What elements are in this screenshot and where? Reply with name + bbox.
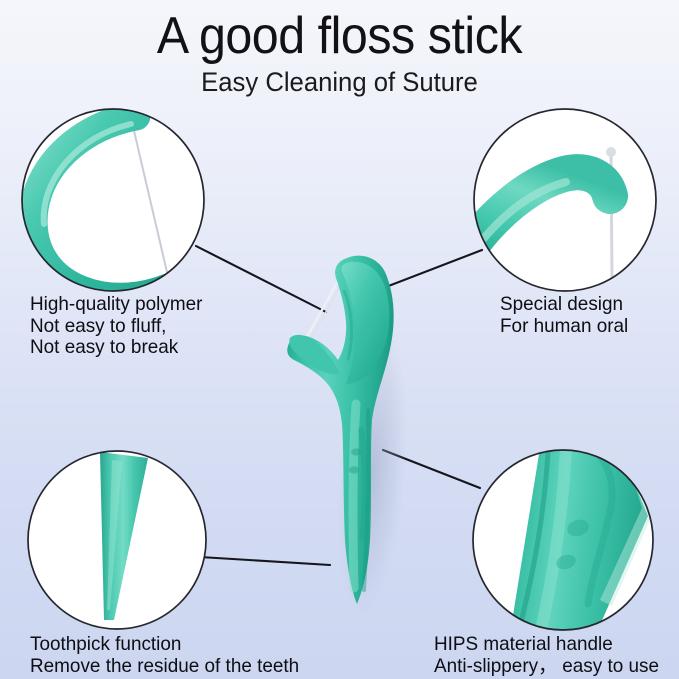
callout-caption-top-right: Special design For human oral bbox=[500, 294, 628, 337]
infographic-page: A good floss stick Easy Cleaning of Sutu… bbox=[0, 0, 679, 679]
caption-line: Remove the residue of the teeth bbox=[30, 656, 299, 678]
caption-line: For human oral bbox=[500, 316, 628, 338]
callout-caption-bottom-left: Toothpick function Remove the residue of… bbox=[30, 634, 299, 677]
caption-line: High-quality polymer bbox=[30, 294, 202, 316]
captions-layer: High-quality polymer Not easy to fluff, … bbox=[0, 0, 679, 679]
caption-line: Special design bbox=[500, 294, 628, 316]
caption-line: HIPS material handle bbox=[434, 634, 659, 656]
caption-line: Not easy to break bbox=[30, 337, 202, 359]
caption-line: Anti-slippery， easy to use bbox=[434, 656, 659, 678]
caption-line: Toothpick function bbox=[30, 634, 299, 656]
callout-caption-top-left: High-quality polymer Not easy to fluff, … bbox=[30, 294, 202, 359]
caption-line: Not easy to fluff, bbox=[30, 316, 202, 338]
callout-caption-bottom-right: HIPS material handle Anti-slippery， easy… bbox=[434, 634, 659, 677]
